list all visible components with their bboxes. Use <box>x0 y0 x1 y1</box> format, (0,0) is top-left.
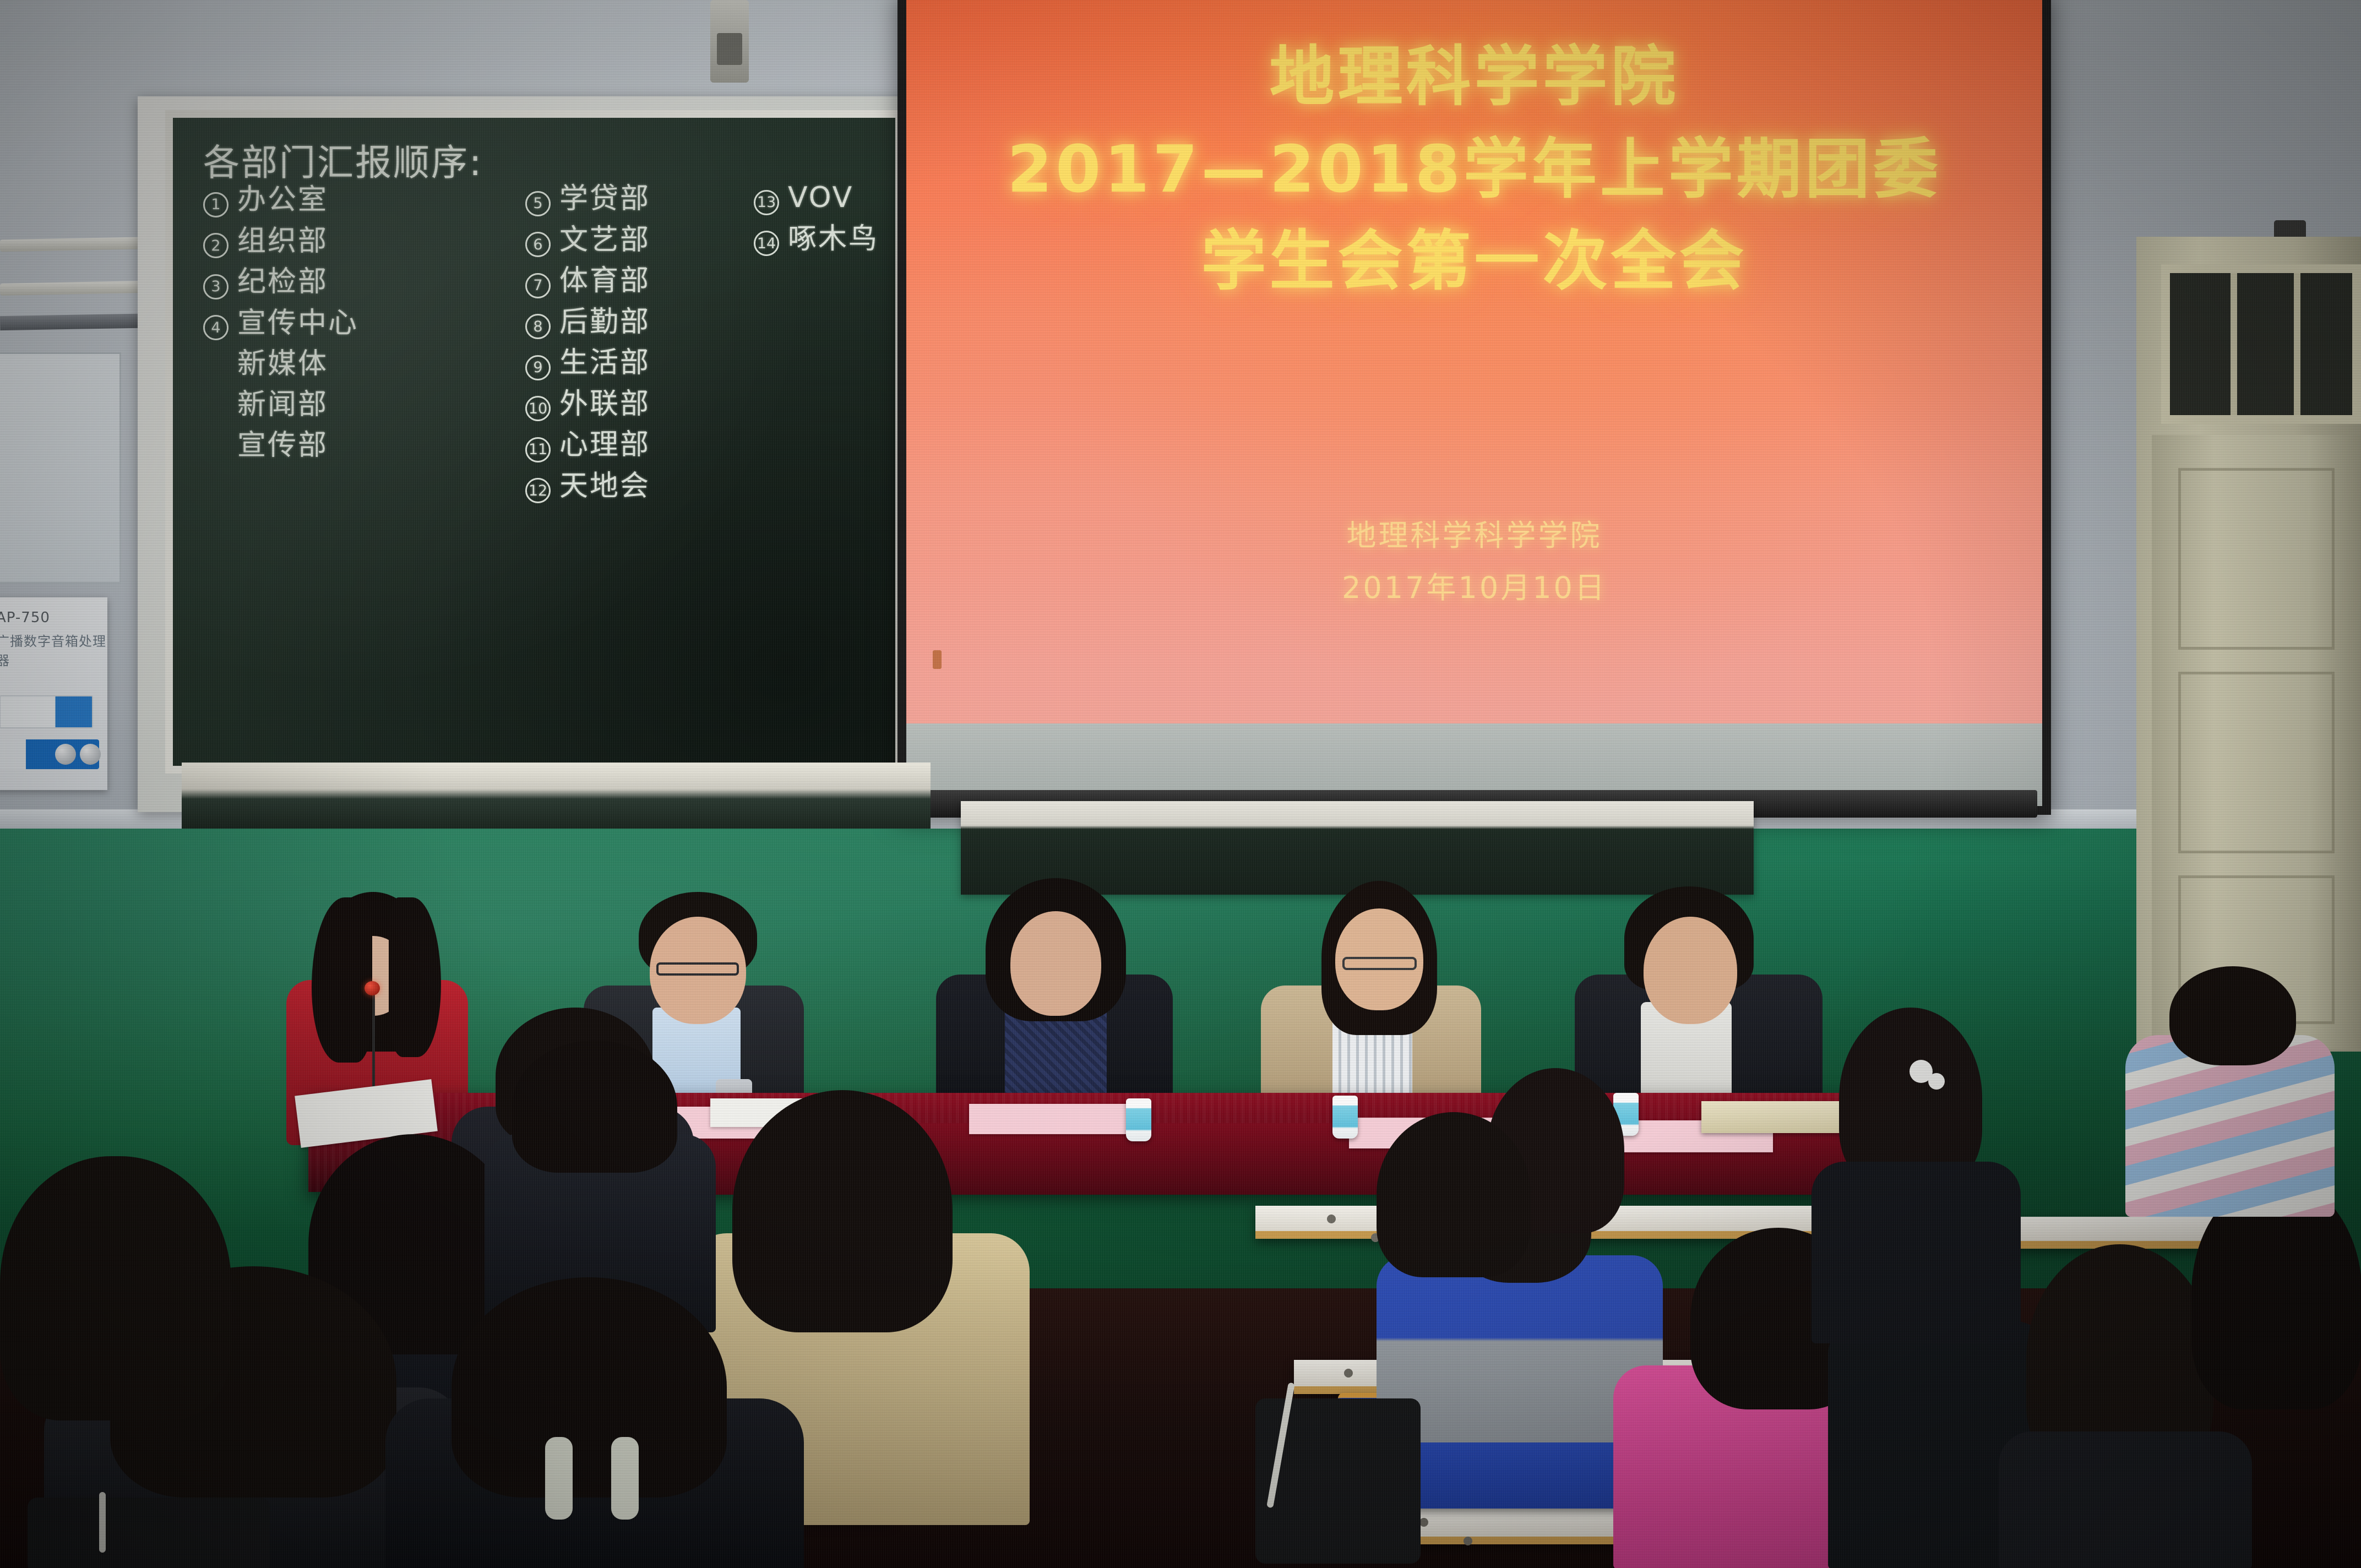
classroom-door[interactable] <box>2152 435 2361 1049</box>
backpack-strap <box>99 1492 106 1553</box>
list-number: 10 <box>525 396 551 421</box>
speaker-grill <box>717 33 742 65</box>
list-item: 宣传中心 <box>237 307 358 340</box>
window-mullion <box>2294 273 2300 415</box>
audience-hair <box>1377 1112 1531 1277</box>
projection-screen: 地理科学学院 2017—2018学年上学期团委 学生会第一次全会 地理科学科学学… <box>897 0 2051 815</box>
eyeglasses-icon <box>1342 957 1417 970</box>
backpack-strap <box>1266 1382 1295 1509</box>
list-item: 天地会 <box>559 470 650 503</box>
slide-title-line-3: 学生会第一次全会 <box>906 215 2042 308</box>
slide-title-line-1: 地理科学学院 <box>906 31 2042 123</box>
list-item: 文艺部 <box>559 224 650 257</box>
backpack <box>1255 1398 1421 1564</box>
chalkboard-inner-frame: 各部门汇报顺序: 1办公室 2组织部 3纪检部 4宣传中心 新媒体 新闻部 宣传… <box>165 110 903 774</box>
amplifier-display <box>0 695 93 728</box>
list-number: 3 <box>203 274 229 300</box>
audience-hair <box>2169 966 2296 1065</box>
chalkboard-title: 各部门汇报顺序: <box>203 133 483 186</box>
audience-hair-ponytail <box>732 1090 953 1332</box>
door-panel-inset <box>2178 468 2335 650</box>
list-item: 心理部 <box>559 429 650 462</box>
amplifier-subtitle-label: 广播数字音箱处理器 <box>0 630 107 669</box>
list-item: 纪检部 <box>237 266 328 299</box>
classroom-photo: AP-750 广播数字音箱处理器 各部门汇报顺序: 1办公室 2组织部 3纪检部… <box>0 0 2361 1568</box>
microphone-icon[interactable] <box>365 981 380 995</box>
chalkboard-column-three: 13VOV 14啄木鸟 <box>754 182 879 264</box>
paper-cup <box>1332 1096 1358 1139</box>
list-number: 5 <box>525 191 551 216</box>
list-item: 外联部 <box>559 388 650 421</box>
presentation-slide: 地理科学学院 2017—2018学年上学期团委 学生会第一次全会 地理科学科学学… <box>906 0 2042 806</box>
audience-hair <box>451 1277 727 1498</box>
list-item: 体育部 <box>559 265 650 298</box>
list-item: 啄木鸟 <box>788 223 879 256</box>
eyeglasses-icon <box>656 962 739 976</box>
panel-member-5-head <box>1644 917 1737 1024</box>
wall-utility-panel <box>0 352 121 584</box>
chalkboard-column-two: 5学贷部 6文艺部 7体育部 8后勤部 9生活部 10外联部 11心理部 12天… <box>525 183 650 511</box>
door-panel-inset <box>2178 672 2335 853</box>
document-papers <box>969 1104 1134 1134</box>
list-number: 9 <box>525 355 551 380</box>
paper-cup <box>1126 1098 1151 1141</box>
list-item: 宣传部 <box>237 429 328 462</box>
list-number: 7 <box>525 273 551 298</box>
amplifier-knob[interactable] <box>80 744 101 765</box>
hair-clip-icon <box>1910 1060 1933 1083</box>
audience-hair <box>512 1041 677 1173</box>
amplifier-model-label: AP-750 <box>0 609 50 626</box>
slide-title: 地理科学学院 2017—2018学年上学期团委 学生会第一次全会 <box>906 31 2042 308</box>
chalkboard-surface: 各部门汇报顺序: 1办公室 2组织部 3纪检部 4宣传中心 新媒体 新闻部 宣传… <box>173 118 895 766</box>
list-number: 1 <box>203 192 229 217</box>
list-item: 后勤部 <box>559 306 650 339</box>
list-number: 2 <box>203 233 229 258</box>
slide-subtitle-date: 2017年10月10日 <box>906 562 2042 614</box>
list-number <box>203 348 229 373</box>
door-transom-window <box>2161 264 2361 424</box>
rear-chalkboard-right <box>961 801 1754 895</box>
amplifier-knob[interactable] <box>55 744 76 765</box>
list-number: 4 <box>203 315 229 340</box>
slide-subtitle: 地理科学科学学院 2017年10月10日 <box>906 510 2042 614</box>
list-number: 11 <box>525 437 551 462</box>
list-item: 组织部 <box>237 225 328 258</box>
list-number: 8 <box>525 314 551 339</box>
list-number: 14 <box>754 231 779 256</box>
list-item: VOV <box>788 182 853 215</box>
rear-chalkboard-left <box>182 763 931 829</box>
slide-subtitle-org: 地理科学科学学院 <box>906 510 2042 562</box>
audience-hair <box>0 1156 231 1420</box>
audience-torso <box>1811 1162 2021 1343</box>
screen-smudge <box>933 650 942 669</box>
backpack <box>28 1498 270 1568</box>
list-number: 13 <box>754 190 779 215</box>
window-mullion <box>2231 273 2237 415</box>
audio-amplifier[interactable]: AP-750 广播数字音箱处理器 <box>0 597 107 790</box>
panel-member-3-head <box>1010 911 1101 1016</box>
list-item: 生活部 <box>559 347 650 380</box>
list-item: 学贷部 <box>559 183 650 216</box>
slide-title-line-2: 2017—2018学年上学期团委 <box>906 123 2042 216</box>
list-item: 新媒体 <box>237 348 328 381</box>
chalkboard-column-one: 1办公室 2组织部 3纪检部 4宣传中心 新媒体 新闻部 宣传部 <box>203 184 358 470</box>
audience-torso <box>1999 1431 2252 1568</box>
list-item: 新闻部 <box>237 389 328 422</box>
list-number: 6 <box>525 232 551 257</box>
ceiling-speaker-icon <box>710 0 749 83</box>
list-number <box>203 429 229 455</box>
list-item: 办公室 <box>237 184 328 217</box>
hoodie-drawstring <box>545 1437 573 1520</box>
list-number <box>203 389 229 414</box>
hoodie-drawstring <box>611 1437 639 1520</box>
list-number: 12 <box>525 478 551 503</box>
